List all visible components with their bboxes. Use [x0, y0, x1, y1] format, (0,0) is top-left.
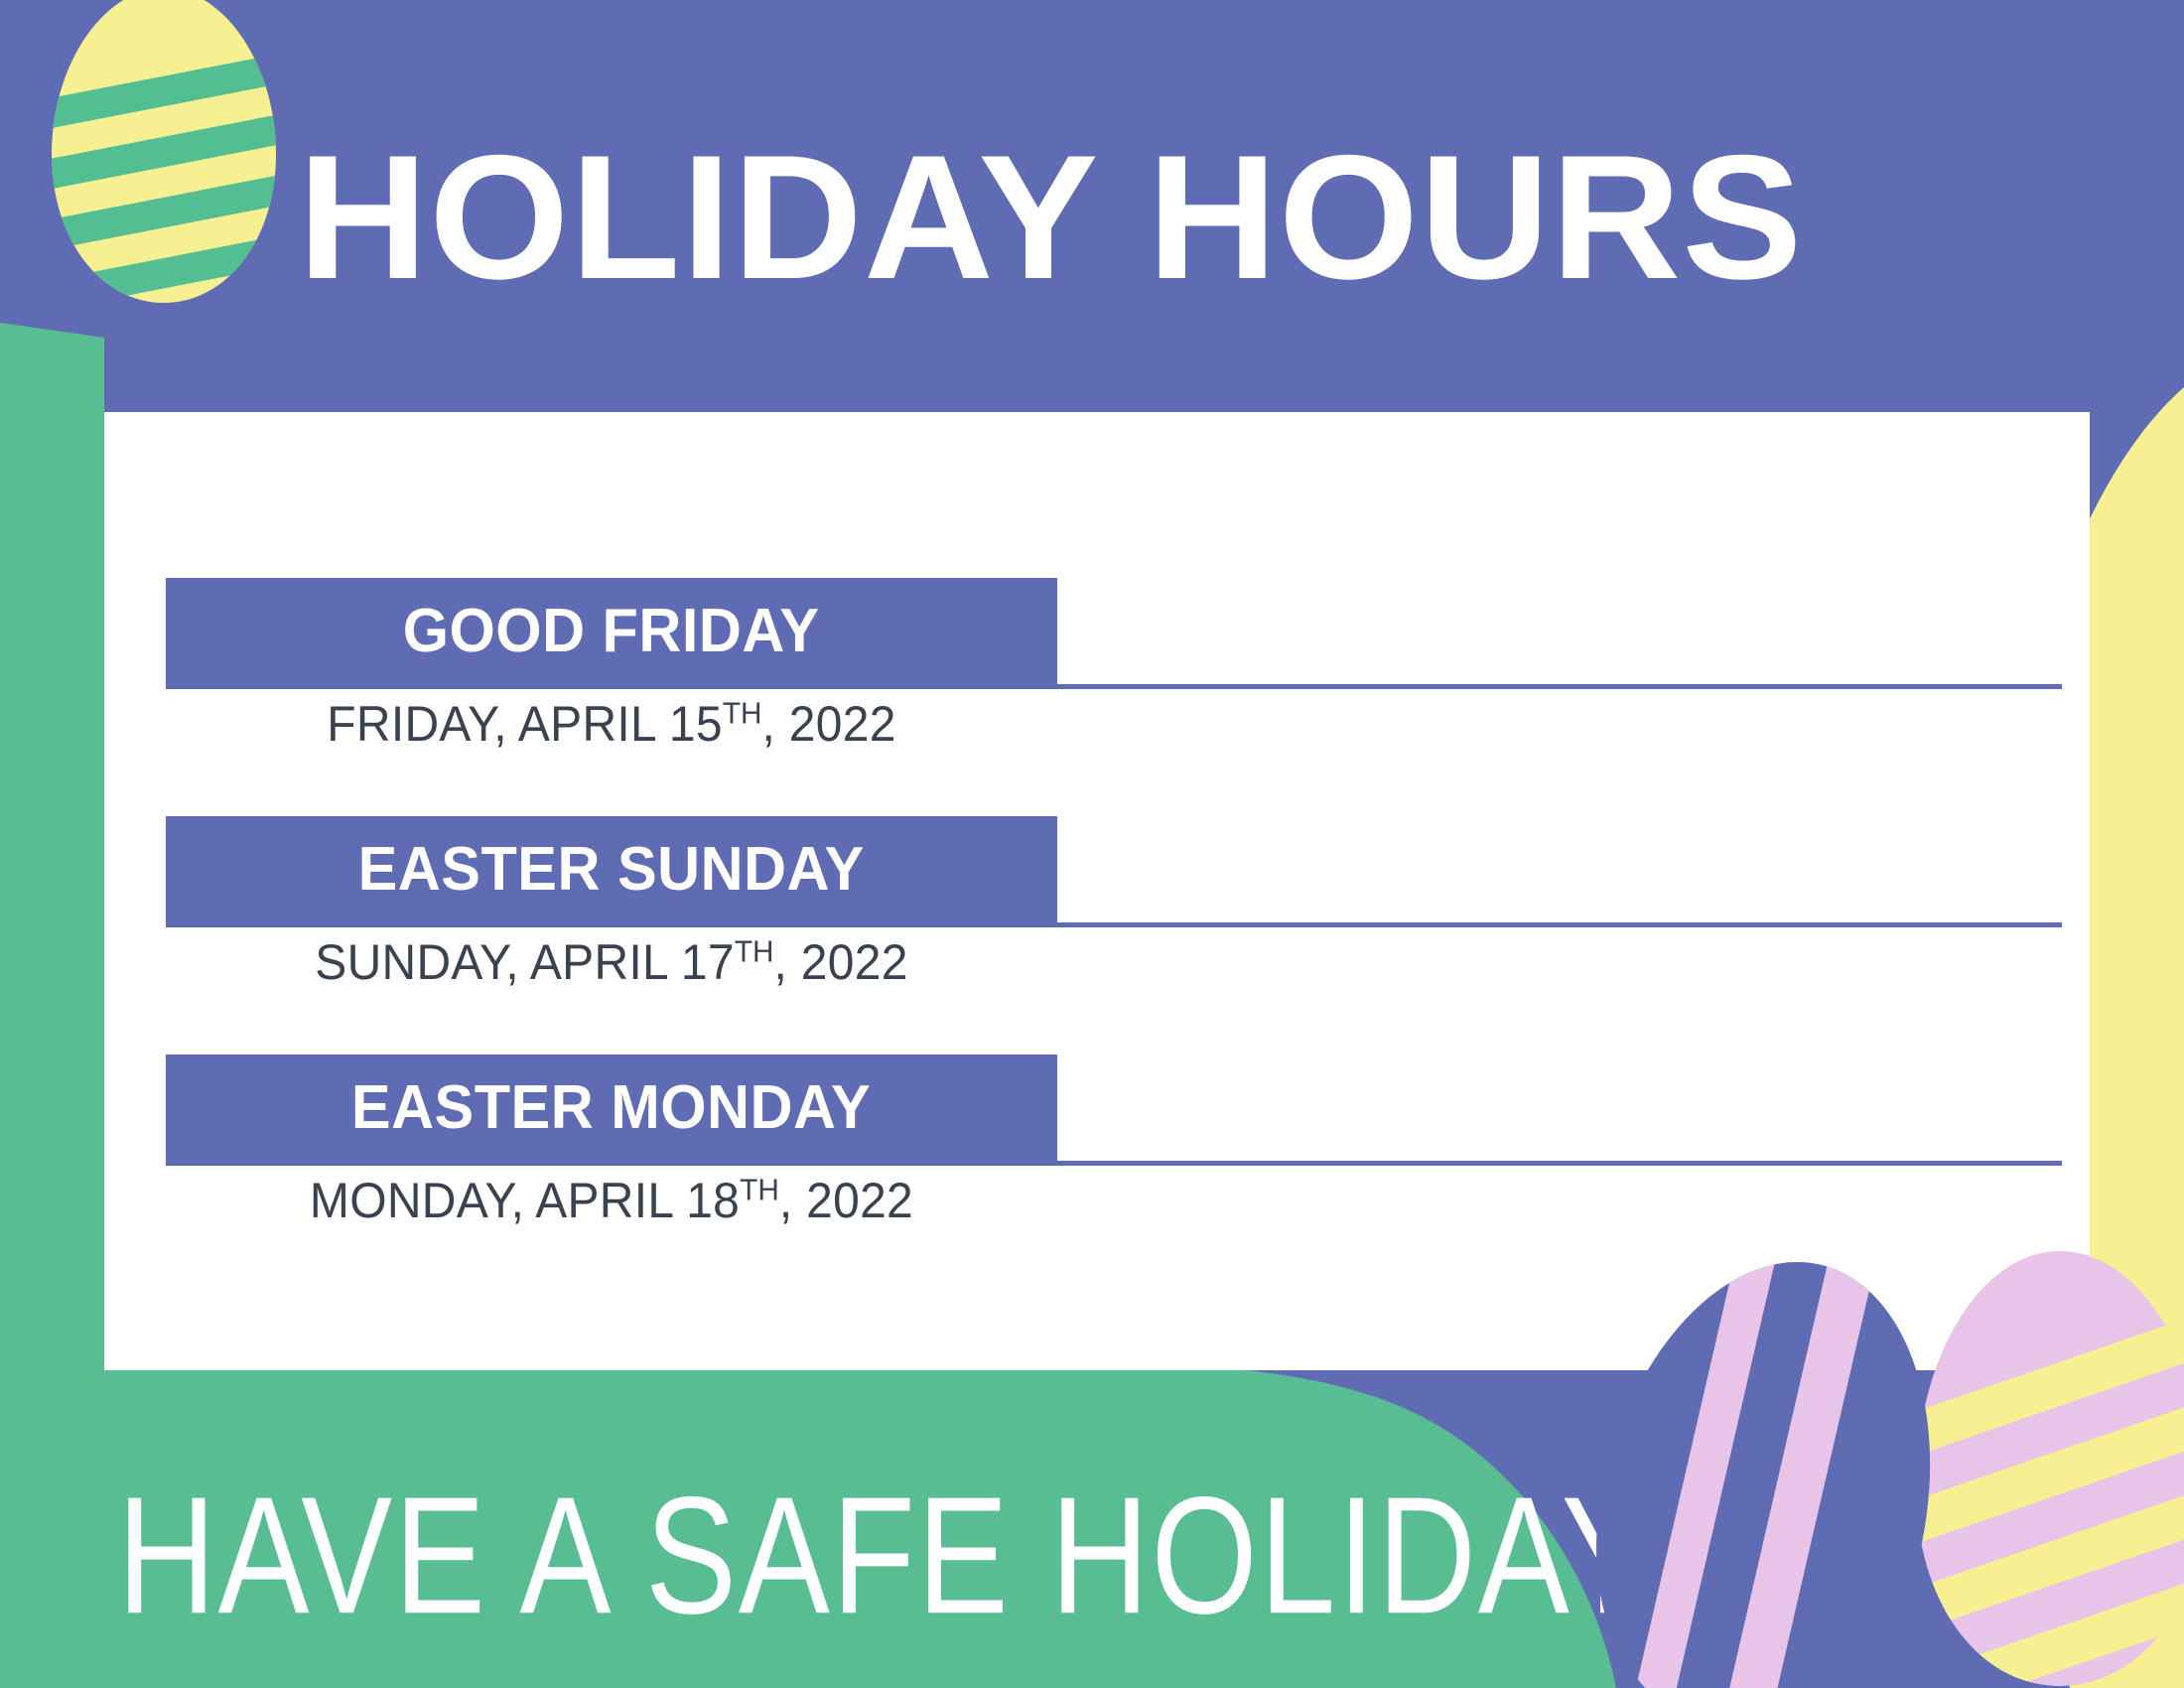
holiday-name-label: GOOD FRIDAY [403, 596, 820, 666]
holiday-date-prefix: SUNDAY, APRIL 17 [315, 934, 735, 990]
hours-write-in-rule[interactable] [166, 1161, 2062, 1166]
holiday-date-ordinal: TH [735, 933, 774, 968]
holiday-date-label: SUNDAY, APRIL 17TH, 2022 [184, 933, 1039, 991]
striped-egg-yellow-green-icon [20, 0, 308, 318]
holiday-date-ordinal: TH [740, 1172, 779, 1206]
holiday-name-label: EASTER SUNDAY [358, 834, 865, 905]
holiday-date-label: FRIDAY, APRIL 15TH, 2022 [184, 695, 1039, 753]
holiday-date-suffix: , 2022 [762, 696, 896, 752]
page-title: HOLIDAY HOURS [298, 129, 2019, 306]
holiday-date-suffix: , 2022 [774, 934, 908, 990]
holiday-name-bar: GOOD FRIDAY [166, 578, 1057, 684]
hours-write-in-rule[interactable] [166, 922, 2062, 927]
holiday-name-bar: EASTER SUNDAY [166, 816, 1057, 922]
holiday-date-suffix: , 2022 [779, 1173, 913, 1228]
holiday-date-label: MONDAY, APRIL 18TH, 2022 [184, 1172, 1039, 1229]
holiday-row: GOOD FRIDAY FRIDAY, APRIL 15TH, 2022 [166, 578, 2102, 816]
holiday-row: EASTER SUNDAY SUNDAY, APRIL 17TH, 2022 [166, 816, 2102, 1055]
holiday-hours-poster: HOLIDAY HOURS GOOD FRIDAY FRIDAY, APRIL … [0, 0, 2184, 1688]
holiday-name-label: EASTER MONDAY [351, 1072, 871, 1143]
holiday-date-prefix: MONDAY, APRIL 18 [310, 1173, 740, 1228]
holiday-rows-list: GOOD FRIDAY FRIDAY, APRIL 15TH, 2022 EAS… [166, 578, 2102, 1293]
footer-message: HAVE A SAFE HOLIDAY [117, 1472, 1654, 1638]
holiday-date-prefix: FRIDAY, APRIL 15 [327, 696, 723, 752]
striped-egg-purple-pink-icon [1549, 1236, 2045, 1688]
hours-write-in-rule[interactable] [166, 684, 2062, 689]
holiday-date-ordinal: TH [723, 695, 762, 730]
holiday-name-bar: EASTER MONDAY [166, 1055, 1057, 1161]
